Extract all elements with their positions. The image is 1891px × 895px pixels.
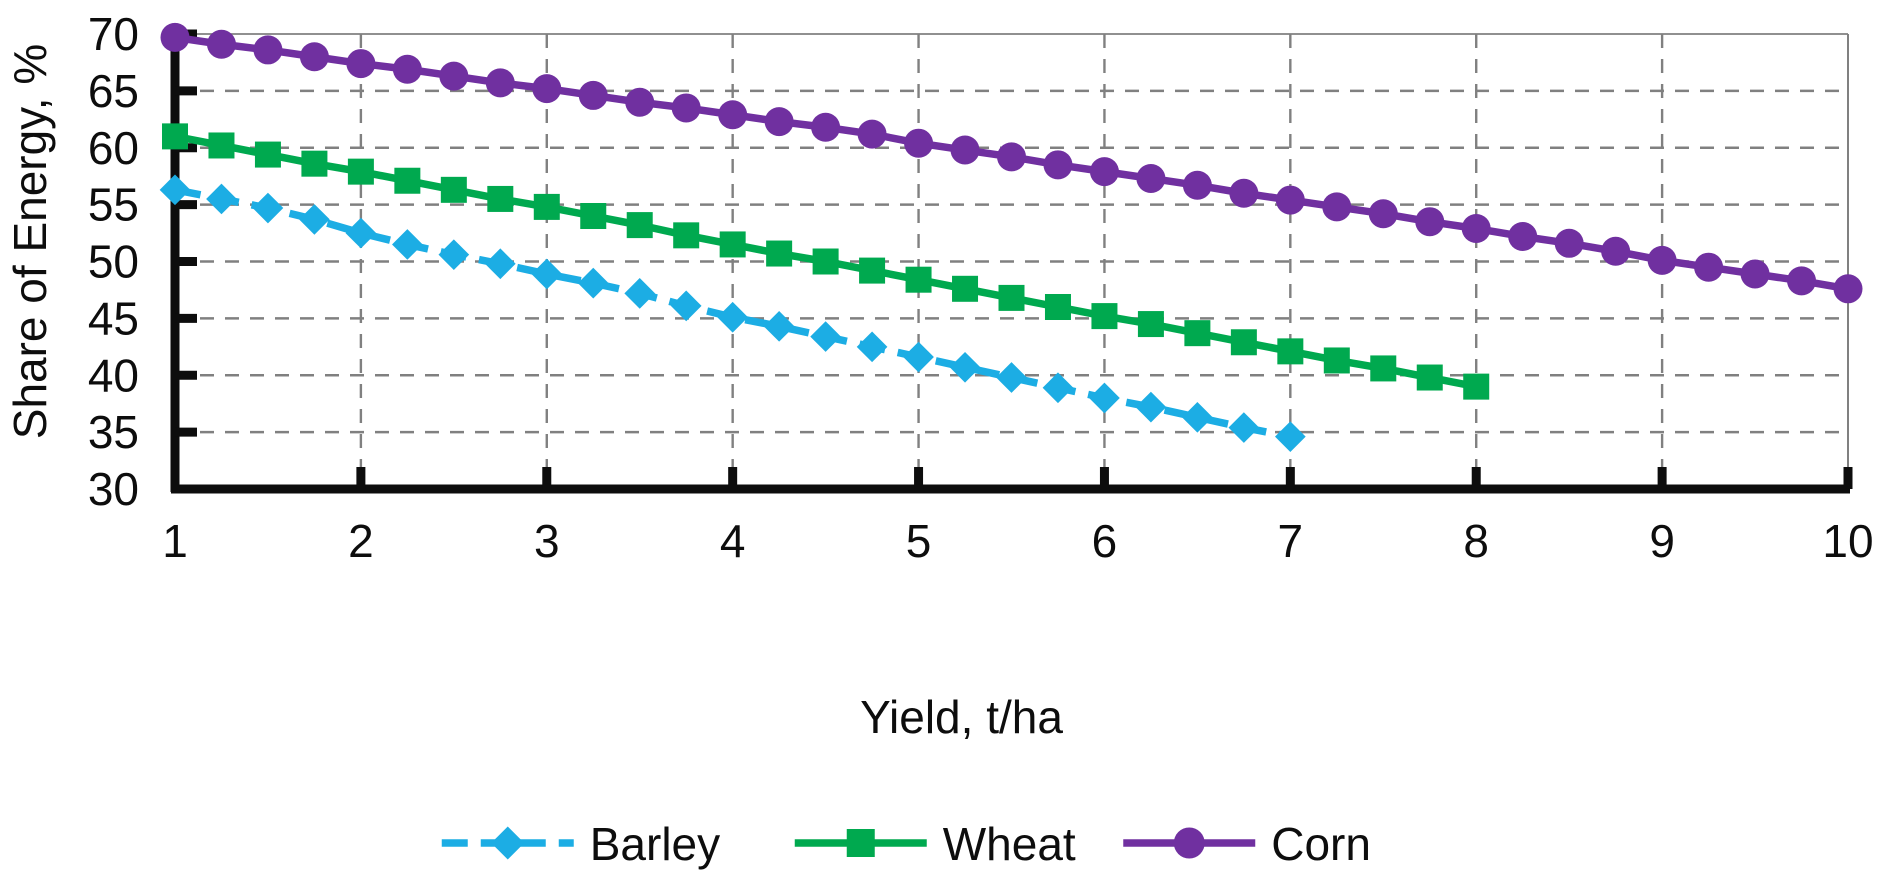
y-tick-label: 65	[88, 65, 139, 117]
data-point-marker-square	[1231, 329, 1257, 355]
data-point-marker-circle	[1462, 214, 1491, 243]
x-tick-label: 1	[162, 515, 188, 567]
data-point-marker-square	[1370, 355, 1396, 381]
y-axis-title: Share of Energy, %	[4, 44, 56, 439]
data-point-marker-square	[952, 276, 978, 302]
data-point-marker-square	[847, 829, 875, 857]
data-point-marker-square	[208, 132, 234, 158]
data-point-marker-square	[813, 249, 839, 275]
data-point-marker-circle	[1174, 828, 1205, 859]
data-point-marker-circle	[1741, 260, 1770, 289]
data-point-marker-circle	[1183, 171, 1212, 200]
data-point-marker-square	[162, 123, 188, 149]
legend-label: Wheat	[943, 818, 1076, 870]
data-point-marker-square	[906, 267, 932, 293]
y-tick-label: 35	[88, 406, 139, 458]
data-point-marker-circle	[997, 142, 1026, 171]
x-tick-label: 6	[1092, 515, 1118, 567]
y-tick-label: 45	[88, 292, 139, 344]
data-point-marker-circle	[1276, 186, 1305, 215]
data-point-marker-circle	[1694, 253, 1723, 282]
data-point-marker-circle	[1415, 207, 1444, 236]
x-tick-label: 3	[534, 515, 560, 567]
x-tick-label: 5	[906, 515, 932, 567]
data-point-marker-square	[1138, 311, 1164, 337]
data-point-marker-square	[348, 159, 374, 185]
chart-figure: 30354045505560657012345678910 Yield, t/h…	[0, 0, 1891, 895]
data-point-marker-square	[859, 258, 885, 284]
data-point-marker-circle	[1787, 266, 1816, 295]
data-point-marker-circle	[1043, 150, 1072, 179]
data-point-marker-circle	[532, 74, 561, 103]
x-tick-label: 4	[720, 515, 746, 567]
data-point-marker-square	[1324, 347, 1350, 373]
data-point-marker-circle	[858, 120, 887, 149]
data-point-marker-square	[534, 194, 560, 220]
data-point-marker-circle	[1601, 237, 1630, 266]
x-tick-label: 9	[1649, 515, 1675, 567]
data-point-marker-circle	[207, 30, 236, 59]
data-point-marker-circle	[1648, 246, 1677, 275]
data-point-marker-circle	[672, 93, 701, 122]
data-point-marker-square	[441, 177, 467, 203]
line-chart: 30354045505560657012345678910 Yield, t/h…	[0, 0, 1891, 895]
data-point-marker-square	[487, 186, 513, 212]
data-point-marker-circle	[1834, 274, 1863, 303]
x-tick-label: 10	[1822, 515, 1873, 567]
data-point-marker-square	[580, 203, 606, 229]
x-tick-label: 2	[348, 515, 374, 567]
data-point-marker-square	[673, 222, 699, 248]
data-point-marker-circle	[1322, 192, 1351, 221]
legend-label: Corn	[1271, 818, 1371, 870]
data-point-marker-square	[999, 285, 1025, 311]
data-point-marker-square	[627, 212, 653, 238]
x-axis-title: Yield, t/ha	[860, 691, 1063, 743]
data-point-marker-circle	[1508, 222, 1537, 251]
data-point-marker-circle	[718, 100, 747, 129]
data-point-marker-circle	[1090, 157, 1119, 186]
y-tick-label: 50	[88, 236, 139, 288]
data-point-marker-circle	[1555, 229, 1584, 258]
data-point-marker-square	[1045, 294, 1071, 320]
data-point-marker-circle	[579, 81, 608, 110]
data-point-marker-square	[1417, 365, 1443, 391]
data-point-marker-circle	[904, 129, 933, 158]
data-point-marker-square	[766, 241, 792, 267]
data-point-marker-square	[1463, 374, 1489, 400]
data-point-marker-square	[720, 231, 746, 257]
legend-label: Barley	[590, 818, 720, 870]
data-point-marker-circle	[1369, 199, 1398, 228]
data-point-marker-square	[255, 142, 281, 168]
data-point-marker-circle	[439, 62, 468, 91]
data-point-marker-square	[394, 168, 420, 194]
data-point-marker-square	[1184, 320, 1210, 346]
data-point-marker-circle	[625, 88, 654, 117]
x-tick-label: 7	[1278, 515, 1304, 567]
data-point-marker-circle	[951, 136, 980, 165]
data-point-marker-circle	[161, 23, 190, 52]
data-point-marker-square	[1091, 303, 1117, 329]
x-tick-label: 8	[1463, 515, 1489, 567]
data-point-marker-circle	[1229, 179, 1258, 208]
y-tick-label: 55	[88, 179, 139, 231]
data-point-marker-square	[1277, 338, 1303, 364]
data-point-marker-circle	[811, 113, 840, 142]
data-point-marker-circle	[1136, 164, 1165, 193]
data-point-marker-circle	[300, 42, 329, 71]
y-tick-label: 60	[88, 122, 139, 174]
data-point-marker-square	[301, 151, 327, 177]
y-tick-label: 70	[88, 8, 139, 60]
chart-background	[0, 0, 1891, 895]
data-point-marker-circle	[253, 35, 282, 64]
data-point-marker-circle	[765, 107, 794, 136]
y-tick-label: 40	[88, 349, 139, 401]
data-point-marker-circle	[486, 68, 515, 97]
data-point-marker-circle	[346, 49, 375, 78]
data-point-marker-circle	[393, 55, 422, 84]
y-tick-label: 30	[88, 463, 139, 515]
